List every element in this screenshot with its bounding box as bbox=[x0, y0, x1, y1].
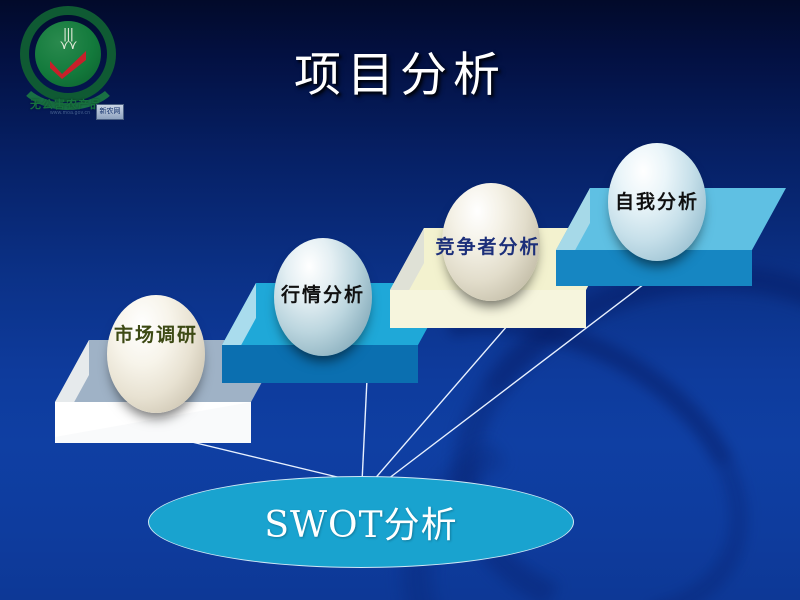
page-title: 项目分析 bbox=[0, 36, 800, 105]
swot-summary-node[interactable]: SWOT分析 bbox=[148, 476, 574, 568]
slide-canvas: |||⋎⋎ 无公害农产品 www.moa.gov.cn 新农网 项目分析 市场调… bbox=[0, 0, 800, 600]
step-1-label: 市场调研 bbox=[114, 320, 198, 347]
step-4-label: 自我分析 bbox=[615, 187, 699, 214]
logo-badge: 新农网 bbox=[96, 104, 124, 120]
logo-url: www.moa.gov.cn bbox=[50, 110, 90, 116]
swot-summary-label: SWOT分析 bbox=[264, 496, 457, 548]
step-1-sphere bbox=[107, 295, 205, 413]
step-3-label: 竞争者分析 bbox=[435, 232, 540, 259]
step-2-label: 行情分析 bbox=[281, 280, 365, 307]
